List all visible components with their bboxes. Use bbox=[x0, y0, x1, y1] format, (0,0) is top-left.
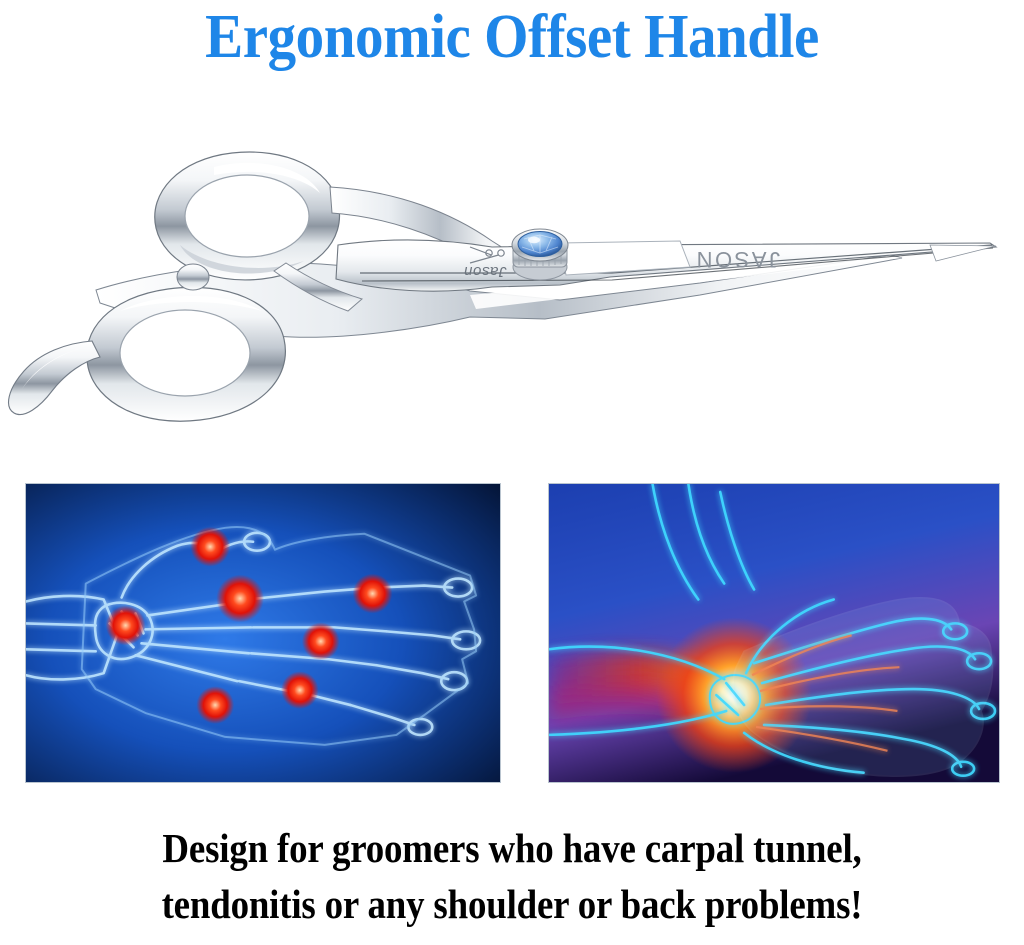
scissors-upper-finger-ring bbox=[155, 152, 340, 280]
product-image-scissors: Jason bbox=[0, 95, 1024, 455]
blade-brand-text: JASON bbox=[694, 247, 780, 272]
arthritis-hand-xray-image bbox=[26, 484, 500, 783]
panel-arthritis bbox=[25, 483, 501, 783]
panel-carpal bbox=[548, 483, 1000, 783]
handle-brand-text: Jason bbox=[463, 263, 507, 280]
caption-line-2: tendonitis or any shoulder or back probl… bbox=[51, 876, 973, 932]
gem-tension-screw bbox=[512, 229, 568, 280]
marketing-image-root: Ergonomic Offset Handle bbox=[0, 0, 1024, 945]
caption-block: Design for groomers who have carpal tunn… bbox=[0, 820, 1024, 932]
scissors-illustration: Jason bbox=[0, 95, 1024, 455]
page-title: Ergonomic Offset Handle bbox=[41, 2, 983, 72]
carpal-tunnel-xray-image bbox=[549, 484, 999, 783]
blade-brand-engraving: JASON bbox=[694, 247, 780, 272]
caption-line-1: Design for groomers who have carpal tunn… bbox=[51, 820, 973, 876]
scissors-finger-rest-hook bbox=[9, 341, 100, 415]
scissors-lower-finger-ring bbox=[87, 287, 286, 421]
scissors-pivot-bump bbox=[177, 264, 209, 290]
